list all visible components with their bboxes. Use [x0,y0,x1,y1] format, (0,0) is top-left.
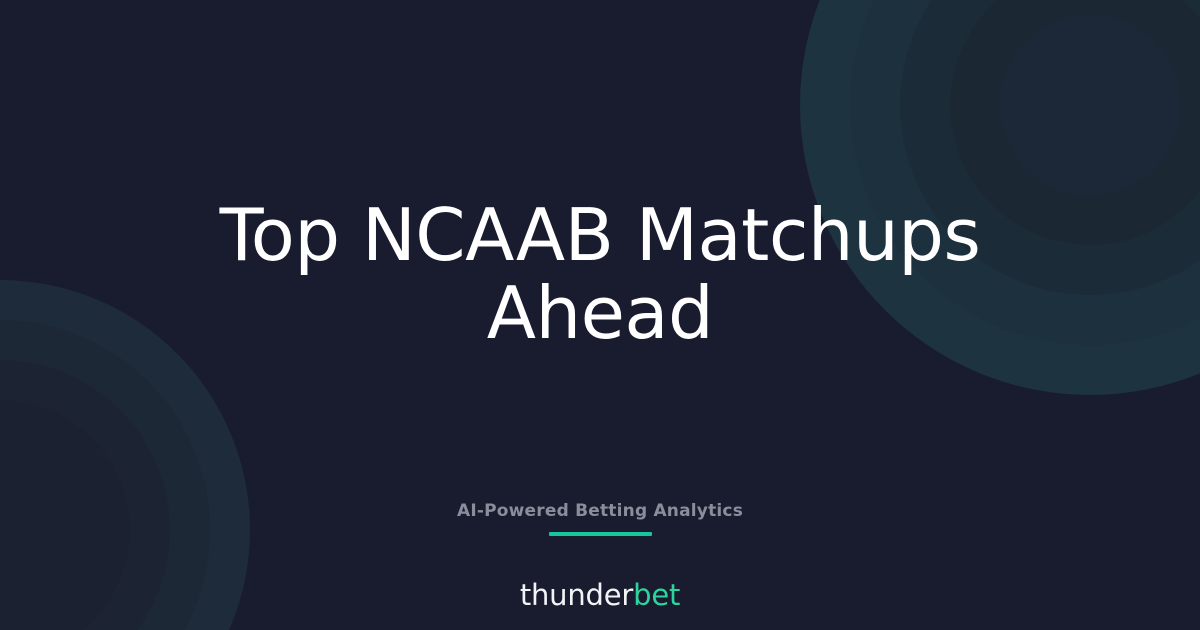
page-title: Top NCAAB Matchups Ahead [0,196,1200,352]
card-footer: AI-Powered Betting Analytics thunderbet [0,500,1200,612]
tagline: AI-Powered Betting Analytics [0,500,1200,522]
brand-logo: thunderbet [0,578,1200,612]
accent-divider [549,532,652,536]
card-content: Top NCAAB Matchups Ahead AI-Powered Bett… [0,0,1200,630]
brand-logo-accent: bet [633,578,680,612]
social-share-card: Top NCAAB Matchups Ahead AI-Powered Bett… [0,0,1200,630]
brand-logo-primary: thunder [520,578,633,612]
